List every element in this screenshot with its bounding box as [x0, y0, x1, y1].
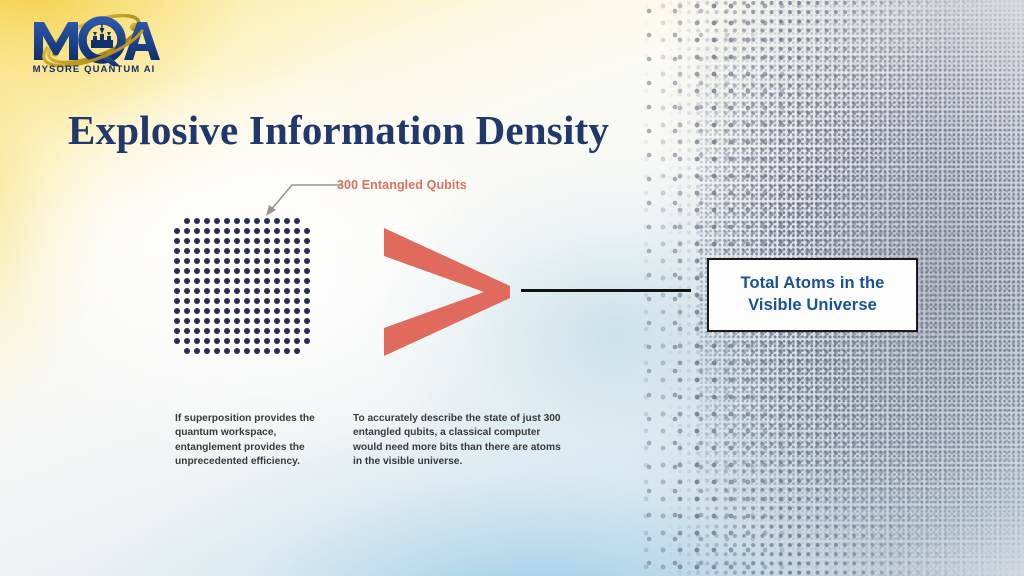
- qubit-dot: [204, 268, 210, 274]
- qubit-dot: [304, 238, 310, 244]
- qubit-dot: [224, 268, 230, 274]
- qubit-dot: [284, 268, 290, 274]
- callout-connector-arrow: [258, 178, 344, 226]
- mqa-logo[interactable]: MYSORE QUANTUM AI: [24, 12, 164, 80]
- qubit-dot: [244, 338, 250, 344]
- qubit-dot: [174, 238, 180, 244]
- qubit-dot: [204, 348, 210, 354]
- qubit-dot: [224, 298, 230, 304]
- qubit-dot: [254, 248, 260, 254]
- qubit-dot: [194, 258, 200, 264]
- qubit-dot: [254, 348, 260, 354]
- qubit-dot: [224, 258, 230, 264]
- qubit-dot: [254, 308, 260, 314]
- universe-line-1: Total Atoms in the: [741, 274, 885, 292]
- qubit-dot: [284, 328, 290, 334]
- qubit-dot: [224, 328, 230, 334]
- qubit-dot: [184, 228, 190, 234]
- qubit-dot: [244, 298, 250, 304]
- qubit-dot: [174, 248, 180, 254]
- qubit-dot: [274, 258, 280, 264]
- qubit-dot: [264, 328, 270, 334]
- qubit-dot: [214, 258, 220, 264]
- qubit-dot: [254, 288, 260, 294]
- qubit-dot: [214, 218, 220, 224]
- qubit-dot: [174, 258, 180, 264]
- qubit-dot: [244, 308, 250, 314]
- qubit-dot: [204, 238, 210, 244]
- qubit-dot: [264, 288, 270, 294]
- qubit-dot: [214, 228, 220, 234]
- qubit-dot: [234, 288, 240, 294]
- qubit-dot: [204, 338, 210, 344]
- qubit-dot: [244, 288, 250, 294]
- qubit-dot: [294, 238, 300, 244]
- qubit-dot: [294, 278, 300, 284]
- qubit-dot: [274, 338, 280, 344]
- qubit-dot: [244, 238, 250, 244]
- qubit-dot: [174, 308, 180, 314]
- qubit-dot: [214, 288, 220, 294]
- qubit-dot: [224, 228, 230, 234]
- qubit-dot: [194, 328, 200, 334]
- qubit-dot: [284, 338, 290, 344]
- qubit-dot: [184, 278, 190, 284]
- qubit-dot: [284, 258, 290, 264]
- qubit-dot: [264, 318, 270, 324]
- qubit-dot: [184, 338, 190, 344]
- universe-callout-box[interactable]: Total Atoms in the Visible Universe: [707, 258, 918, 332]
- qubit-dot: [254, 258, 260, 264]
- qubit-dot: [204, 258, 210, 264]
- qubit-dot: [194, 278, 200, 284]
- qubit-dot: [184, 238, 190, 244]
- qubit-dot: [174, 328, 180, 334]
- qubit-dot: [234, 238, 240, 244]
- universe-callout-text: Total Atoms in the Visible Universe: [741, 273, 885, 317]
- qubit-dot: [304, 318, 310, 324]
- qubit-dot: [284, 308, 290, 314]
- qubit-dot: [224, 318, 230, 324]
- qubit-dot: [174, 298, 180, 304]
- qubit-dot: [184, 288, 190, 294]
- qubit-dot: [234, 228, 240, 234]
- qubit-dot: [294, 338, 300, 344]
- qubit-dot: [214, 308, 220, 314]
- qubit-dot: [264, 248, 270, 254]
- qubit-dot: [254, 278, 260, 284]
- qubit-dot: [224, 238, 230, 244]
- qubit-dot: [184, 268, 190, 274]
- qubit-dot: [184, 318, 190, 324]
- qubit-dot: [284, 278, 290, 284]
- qubit-dot: [254, 328, 260, 334]
- qubit-dot: [214, 298, 220, 304]
- qubit-dot: [234, 338, 240, 344]
- page-title: Explosive Information Density: [68, 106, 609, 154]
- qubit-dot: [254, 238, 260, 244]
- qubit-dot: [244, 268, 250, 274]
- qubit-dot: [274, 248, 280, 254]
- qubit-dot: [264, 268, 270, 274]
- qubit-dot: [184, 258, 190, 264]
- qubit-dot: [284, 318, 290, 324]
- qubit-dot: [184, 328, 190, 334]
- qubit-dot: [244, 318, 250, 324]
- qubit-dot: [184, 248, 190, 254]
- qubit-dot: [294, 348, 300, 354]
- qubit-dot: [294, 328, 300, 334]
- qubit-dot: [234, 218, 240, 224]
- logo-wordmark: MYSORE QUANTUM AI: [24, 64, 164, 75]
- qubit-dot: [194, 308, 200, 314]
- qubit-dot: [224, 288, 230, 294]
- universe-line-2: Visible Universe: [748, 296, 877, 314]
- qubit-dot: [224, 278, 230, 284]
- qubit-dot: [264, 348, 270, 354]
- qubit-dot: [254, 268, 260, 274]
- qubit-dot: [244, 348, 250, 354]
- qubit-dot: [274, 308, 280, 314]
- qubit-dot: [264, 298, 270, 304]
- qubit-dot: [274, 318, 280, 324]
- qubit-dot: [274, 328, 280, 334]
- qubit-dot: [234, 348, 240, 354]
- qubit-dot: [304, 308, 310, 314]
- qubit-dot: [214, 238, 220, 244]
- qubit-dot: [174, 278, 180, 284]
- qubit-dot: [254, 318, 260, 324]
- qubit-dot: [174, 228, 180, 234]
- qubit-dot: [204, 328, 210, 334]
- qubit-dot: [244, 328, 250, 334]
- qubit-dot: [234, 278, 240, 284]
- qubit-dot: [294, 298, 300, 304]
- qubit-dot: [234, 298, 240, 304]
- qubit-dot: [234, 268, 240, 274]
- qubit-dot: [224, 248, 230, 254]
- qubit-dot: [194, 338, 200, 344]
- qubit-dot: [214, 278, 220, 284]
- qubit-dot: [174, 268, 180, 274]
- qubit-dot: [254, 338, 260, 344]
- qubit-dot: [214, 348, 220, 354]
- qubit-dot: [304, 288, 310, 294]
- qubit-dot: [224, 218, 230, 224]
- qubit-dot: [184, 298, 190, 304]
- qubit-dot: [194, 318, 200, 324]
- qubit-dot: [284, 298, 290, 304]
- qubit-dot: [284, 248, 290, 254]
- qubit-dot: [174, 318, 180, 324]
- qubit-dot: [284, 228, 290, 234]
- qubit-dot: [204, 288, 210, 294]
- qubit-dot: [204, 318, 210, 324]
- qubit-dot: [234, 318, 240, 324]
- qubit-dot: [214, 338, 220, 344]
- callout-label: 300 Entangled Qubits: [337, 178, 467, 192]
- qubit-dot: [204, 228, 210, 234]
- qubit-dot: [214, 328, 220, 334]
- qubit-dot: [194, 248, 200, 254]
- qubit-dot: [294, 268, 300, 274]
- qubit-dot: [254, 298, 260, 304]
- qubit-dot: [304, 338, 310, 344]
- qubit-dot: [284, 238, 290, 244]
- qubit-dot: [194, 288, 200, 294]
- qubit-dot: [304, 248, 310, 254]
- qubit-dot: [194, 268, 200, 274]
- qubit-dot: [184, 308, 190, 314]
- qubit-dot: [234, 328, 240, 334]
- qubit-dot: [214, 268, 220, 274]
- qubit-dot: [244, 218, 250, 224]
- mqa-logo-icon: [24, 12, 164, 68]
- qubit-dot: [264, 278, 270, 284]
- qubit-dot: [264, 238, 270, 244]
- qubit-dot: [264, 258, 270, 264]
- qubit-dot: [244, 228, 250, 234]
- qubit-dot: [244, 278, 250, 284]
- qubit-dot: [304, 258, 310, 264]
- qubit-dot: [294, 318, 300, 324]
- qubit-dot: [304, 268, 310, 274]
- qubit-dot: [214, 318, 220, 324]
- qubit-dot: [304, 228, 310, 234]
- qubit-dot: [294, 248, 300, 254]
- qubit-dot: [304, 328, 310, 334]
- qubit-dot: [234, 308, 240, 314]
- qubit-dot: [204, 218, 210, 224]
- qubit-dot: [194, 218, 200, 224]
- qubit-dot: [304, 298, 310, 304]
- qubit-dot: [194, 298, 200, 304]
- qubit-dot: [274, 228, 280, 234]
- qubit-dot: [294, 228, 300, 234]
- qubit-dot: [274, 268, 280, 274]
- qubit-dot: [284, 348, 290, 354]
- qubit-dot: [254, 228, 260, 234]
- qubit-dot: [174, 288, 180, 294]
- qubit-dot: [214, 248, 220, 254]
- qubit-dot: [224, 338, 230, 344]
- caption-superposition: If superposition provides the quantum wo…: [175, 412, 317, 470]
- qubit-dot: [234, 248, 240, 254]
- qubit-dot: [184, 348, 190, 354]
- qubit-dot: [244, 248, 250, 254]
- qubit-dot: [204, 298, 210, 304]
- qubit-dot: [264, 338, 270, 344]
- qubit-dot: [224, 308, 230, 314]
- caption-qubit-state: To accurately describe the state of just…: [353, 412, 571, 470]
- slide-canvas: MYSORE QUANTUM AI Explosive Information …: [0, 0, 1024, 576]
- qubit-dot: [234, 258, 240, 264]
- qubit-dot: [304, 278, 310, 284]
- greater-than-icon: [378, 226, 514, 358]
- qubit-grid: [174, 218, 312, 356]
- qubit-dot: [274, 278, 280, 284]
- qubit-dot: [264, 228, 270, 234]
- qubit-dot: [284, 288, 290, 294]
- qubit-dot: [274, 238, 280, 244]
- qubit-dot: [224, 348, 230, 354]
- qubit-dot: [294, 258, 300, 264]
- qubit-dot: [194, 238, 200, 244]
- qubit-dot: [194, 348, 200, 354]
- qubit-dot: [204, 308, 210, 314]
- qubit-dot: [194, 228, 200, 234]
- comparison-connector-line: [521, 289, 691, 292]
- qubit-dot: [204, 248, 210, 254]
- qubit-dot: [274, 288, 280, 294]
- qubit-dot: [264, 308, 270, 314]
- qubit-dot: [174, 338, 180, 344]
- qubit-dot: [294, 308, 300, 314]
- qubit-dot: [274, 298, 280, 304]
- qubit-dot: [274, 348, 280, 354]
- qubit-dot: [204, 278, 210, 284]
- qubit-dot: [184, 218, 190, 224]
- qubit-dot: [294, 288, 300, 294]
- qubit-dot: [244, 258, 250, 264]
